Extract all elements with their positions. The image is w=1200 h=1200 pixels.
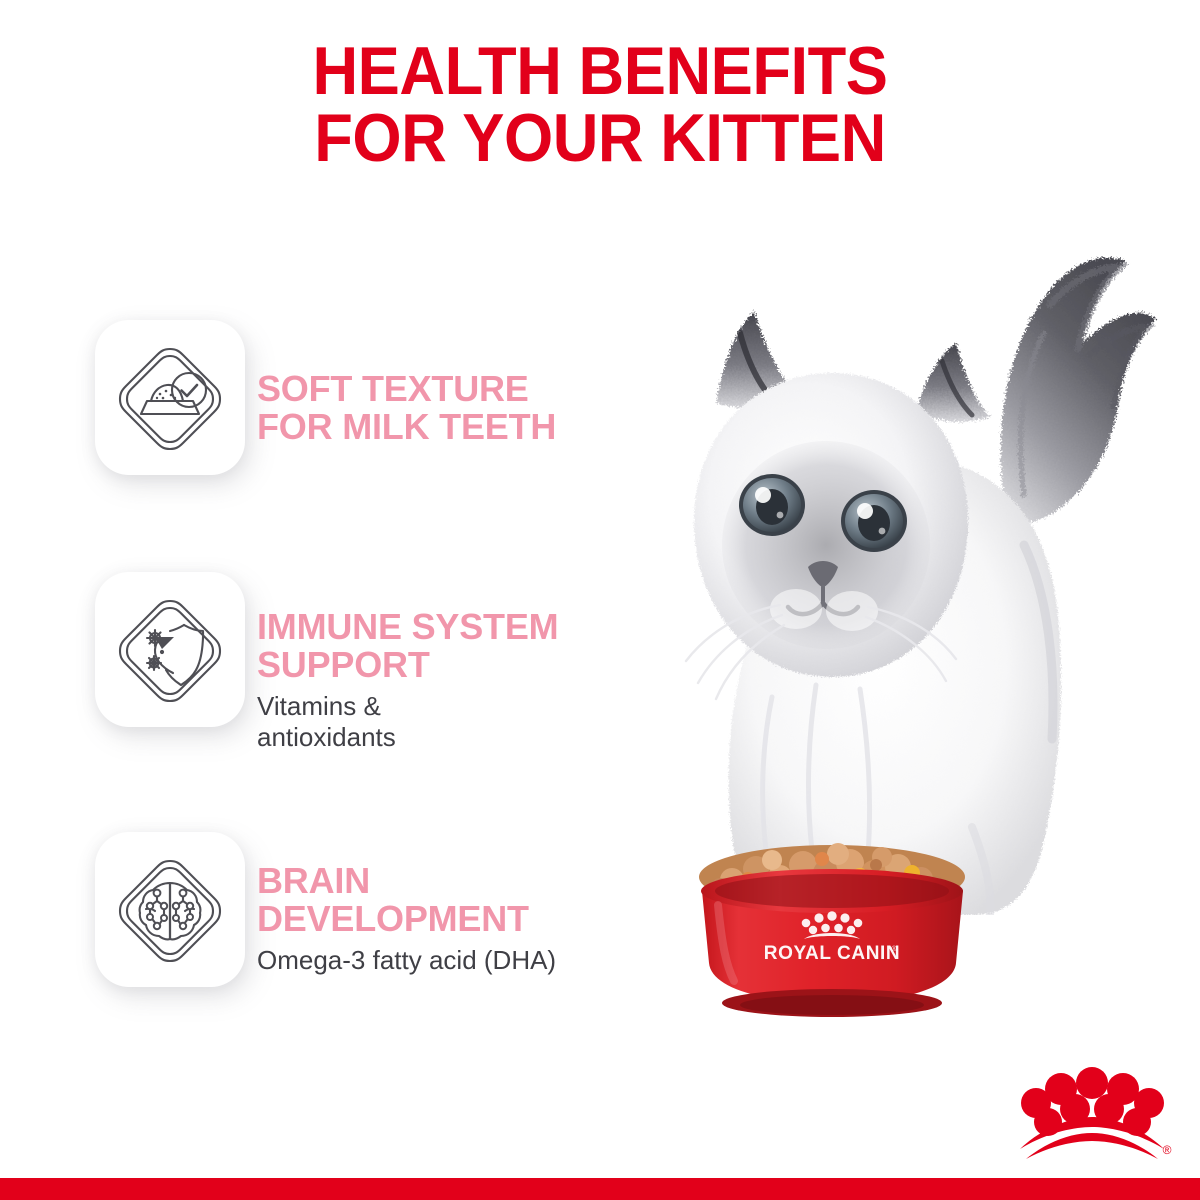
benefit-item-immune-support: IMMUNE SYSTEM SUPPORT Vitamins & antioxi… [95, 572, 655, 727]
benefit-icon-card [95, 832, 245, 987]
footer-red-bar [0, 1178, 1200, 1200]
benefit-item-brain-development: BRAIN DEVELOPMENT Omega-3 fatty acid (DH… [95, 832, 655, 987]
page-title-line-1: HEALTH BENEFITS [42, 38, 1158, 105]
benefit-heading: BRAIN DEVELOPMENT [257, 862, 657, 938]
food-bowl-check-icon [113, 342, 227, 456]
brain-icon [113, 854, 227, 968]
bowl-brand-text: ROYAL CANIN [764, 943, 900, 964]
benefit-text-block: IMMUNE SYSTEM SUPPORT Vitamins & antioxi… [257, 608, 657, 753]
kitten-photo [620, 215, 1180, 915]
bowl-brand-registered: ® [891, 945, 897, 953]
benefit-subtext: Vitamins & antioxidants [257, 691, 657, 752]
benefit-icon-card [95, 572, 245, 727]
royal-canin-crown-logo: ® [1010, 1055, 1175, 1160]
benefit-heading: IMMUNE SYSTEM SUPPORT [257, 608, 657, 684]
benefit-item-soft-texture: SOFT TEXTURE FOR MILK TEETH [95, 320, 655, 475]
benefit-heading: SOFT TEXTURE FOR MILK TEETH [257, 370, 657, 446]
benefit-icon-card [95, 320, 245, 475]
benefit-text-block: BRAIN DEVELOPMENT Omega-3 fatty acid (DH… [257, 862, 657, 976]
page-title-line-2: FOR YOUR KITTEN [42, 105, 1158, 172]
logo-registered-mark: ® [1163, 1143, 1172, 1157]
shield-germs-icon [113, 594, 227, 708]
food-bowl: ROYAL CANIN ® [660, 835, 1005, 1035]
page-title: HEALTH BENEFITS FOR YOUR KITTEN [42, 38, 1158, 173]
benefit-subtext: Omega-3 fatty acid (DHA) [257, 945, 657, 976]
benefit-text-block: SOFT TEXTURE FOR MILK TEETH [257, 370, 657, 453]
infographic-canvas: HEALTH BENEFITS FOR YOUR KITTEN [0, 0, 1200, 1200]
